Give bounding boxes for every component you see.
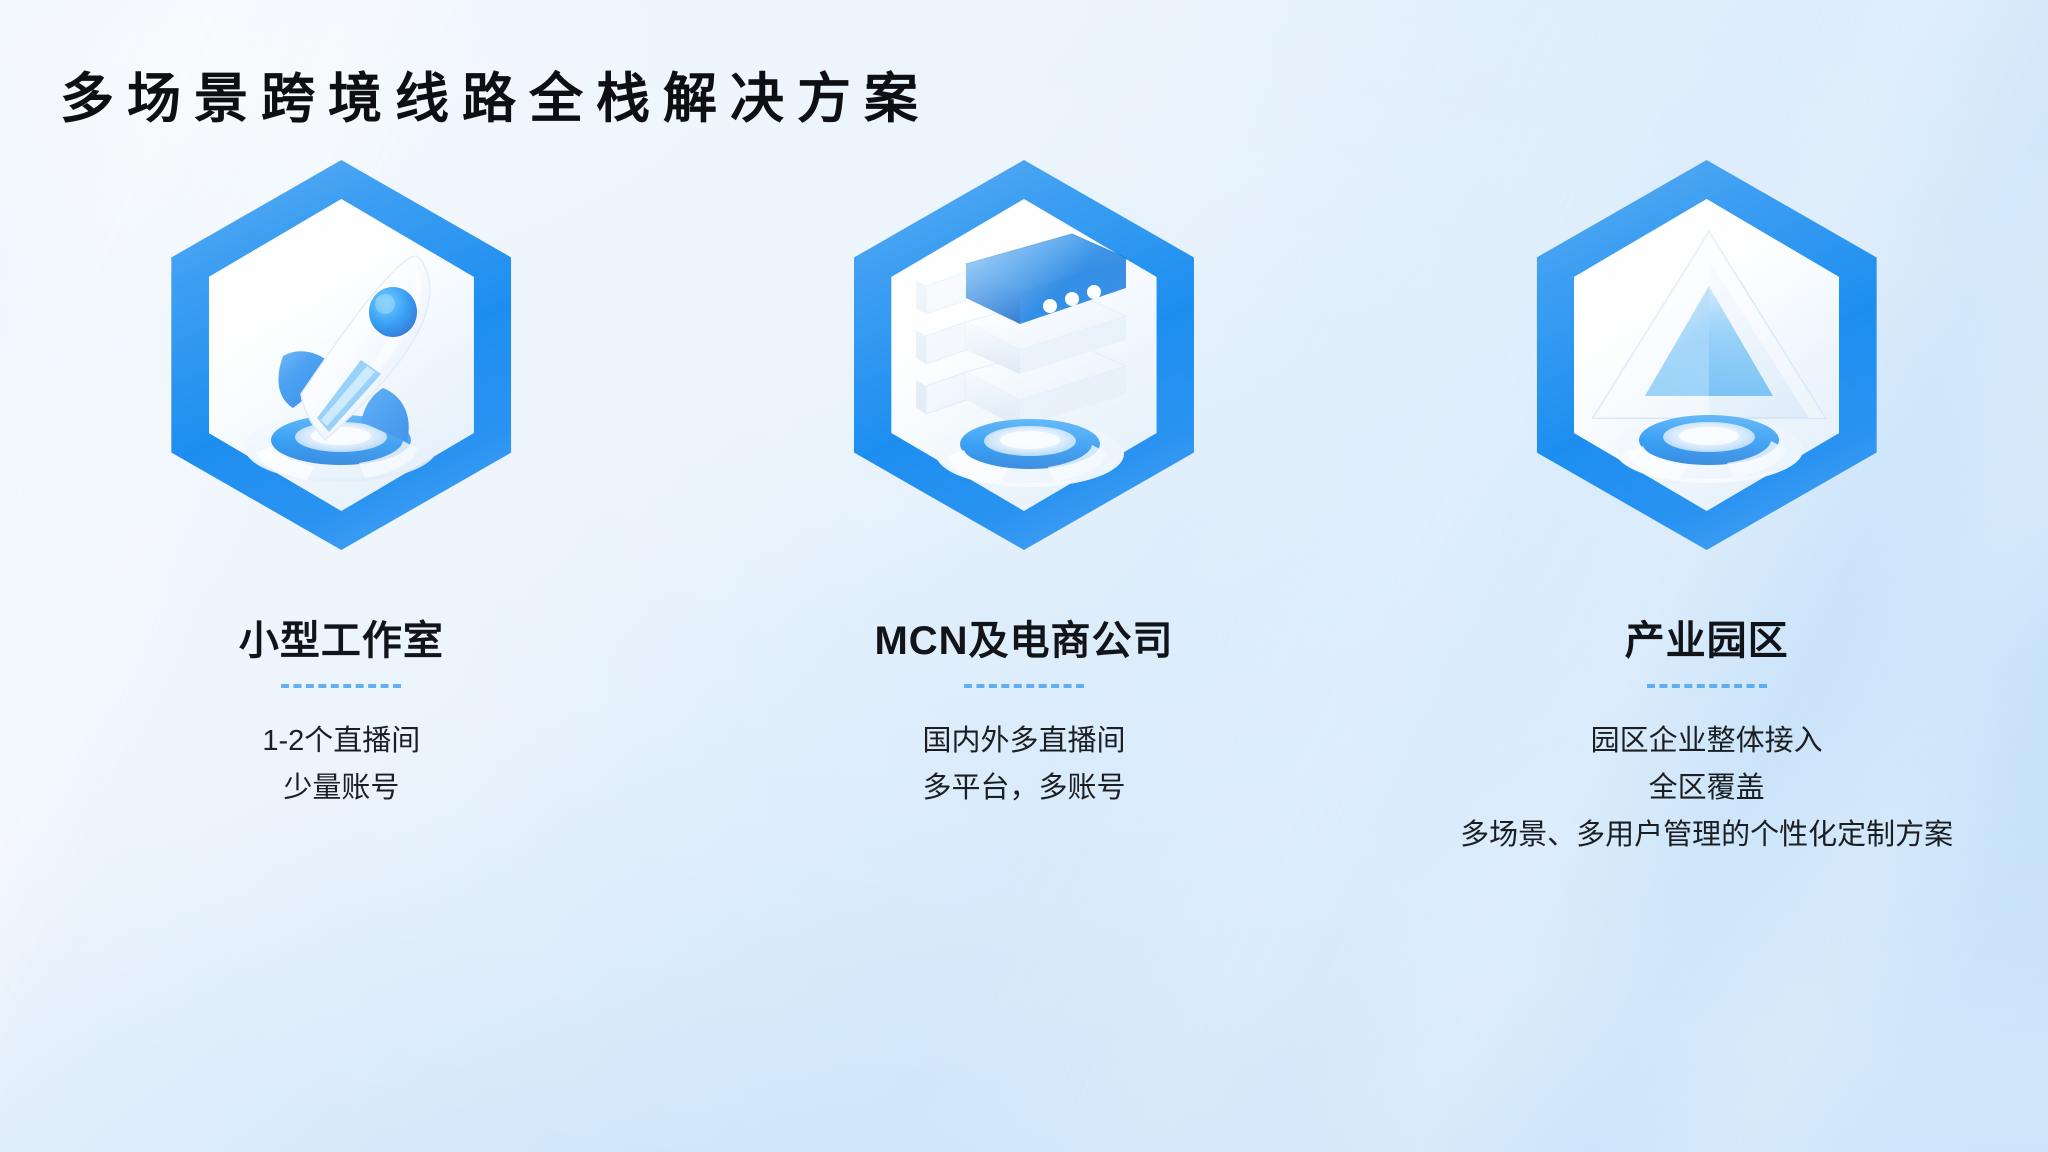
card-description-line: 国内外多直播间 bbox=[922, 718, 1125, 765]
card-description: 1-2个直播间 少量账号 bbox=[262, 718, 420, 812]
card-title: MCN及电商公司 bbox=[874, 608, 1173, 666]
page-title: 多场景跨境线路全栈解决方案 bbox=[60, 54, 931, 133]
card-title: 产业园区 bbox=[1625, 608, 1789, 666]
pyramid-illustration bbox=[1537, 160, 1877, 550]
pyramid-hexagon-icon bbox=[1537, 160, 1877, 550]
scenario-card-mcn-ecommerce[interactable]: MCN及电商公司 国内外多直播间 多平台，多账号 bbox=[724, 160, 1324, 812]
card-divider bbox=[281, 684, 401, 688]
card-description-line: 园区企业整体接入 bbox=[1460, 718, 1953, 765]
rocket-hexagon-icon bbox=[171, 160, 511, 550]
card-divider bbox=[964, 684, 1084, 688]
scenario-card-small-studio[interactable]: 小型工作室 1-2个直播间 少量账号 bbox=[41, 160, 641, 812]
card-description: 园区企业整体接入 全区覆盖 多场景、多用户管理的个性化定制方案 bbox=[1460, 718, 1953, 859]
card-description-line: 1-2个直播间 bbox=[262, 718, 420, 765]
card-description: 国内外多直播间 多平台，多账号 bbox=[922, 718, 1125, 812]
card-divider bbox=[1647, 684, 1767, 688]
server-stack-hexagon-icon bbox=[854, 160, 1194, 550]
card-description-line: 多场景、多用户管理的个性化定制方案 bbox=[1460, 812, 1953, 859]
card-description-line: 全区覆盖 bbox=[1460, 765, 1953, 812]
rocket-illustration bbox=[171, 160, 511, 550]
server-stack-illustration bbox=[854, 160, 1194, 550]
card-title: 小型工作室 bbox=[239, 608, 444, 666]
card-description-line: 少量账号 bbox=[262, 765, 420, 812]
scenario-card-list: 小型工作室 1-2个直播间 少量账号 bbox=[0, 160, 2048, 859]
scenario-card-industrial-park[interactable]: 产业园区 园区企业整体接入 全区覆盖 多场景、多用户管理的个性化定制方案 bbox=[1407, 160, 2007, 859]
card-description-line: 多平台，多账号 bbox=[922, 765, 1125, 812]
